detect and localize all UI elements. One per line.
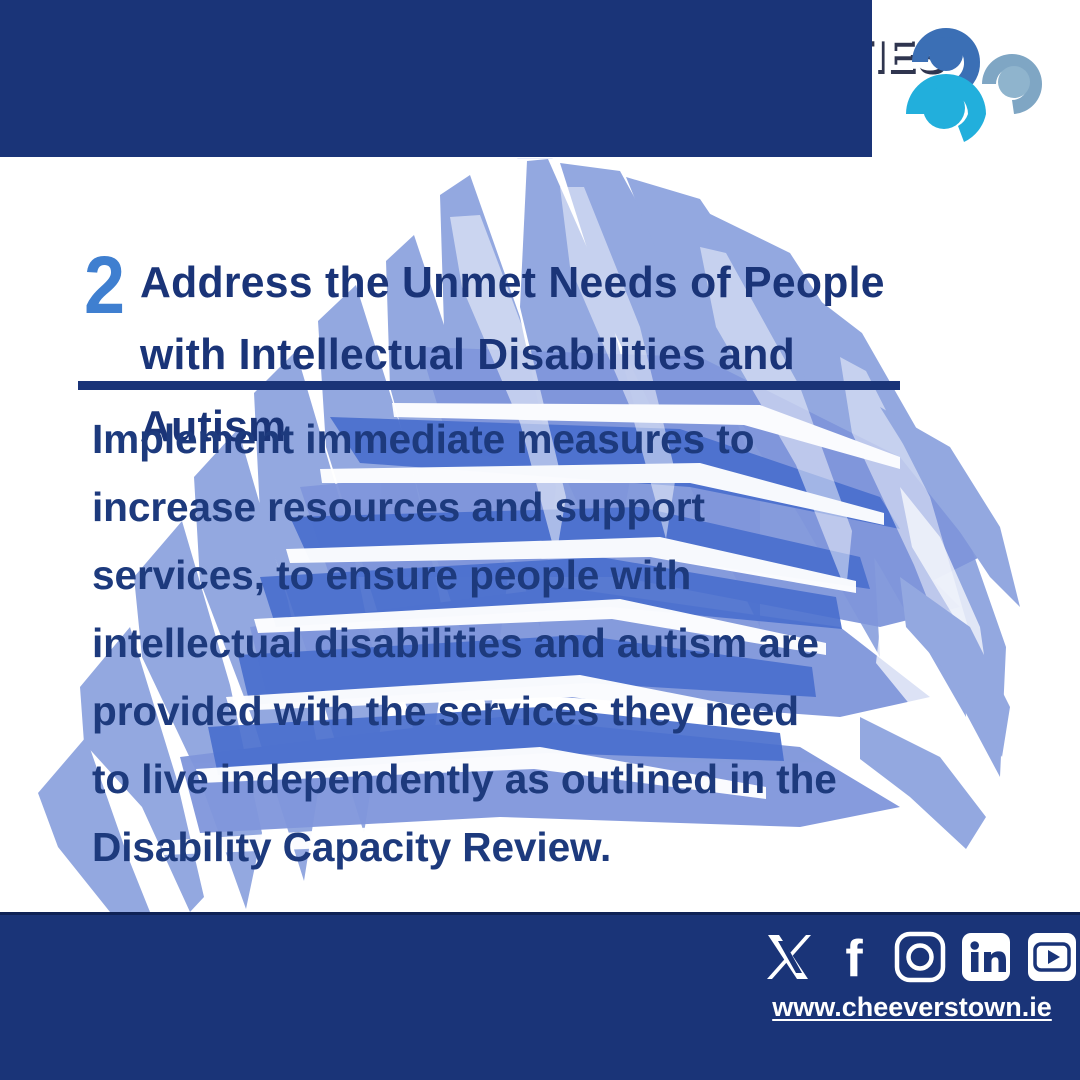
heading-divider (78, 381, 900, 390)
x-twitter-icon[interactable] (762, 931, 814, 983)
youtube-icon[interactable] (1026, 931, 1078, 983)
poster-canvas: GENERAL ELECTION 2024: 10 PRIORITIES It’… (0, 0, 1080, 1080)
priority-body-text: Implement immediate measures to increase… (92, 405, 844, 881)
footer-top-rule (0, 912, 1080, 915)
header-banner (0, 0, 872, 157)
linkedin-icon[interactable] (960, 931, 1012, 983)
facebook-icon[interactable]: f (828, 931, 880, 983)
website-link[interactable]: www.cheeverstown.ie (762, 992, 1062, 1023)
svg-text:f: f (845, 931, 863, 983)
main-content: 2 Address the Unmet Needs of People with… (0, 157, 1080, 912)
instagram-icon[interactable] (894, 931, 946, 983)
social-links-row: f (762, 926, 1062, 988)
priority-number: 2 (84, 245, 125, 327)
cheeverstown-logo (890, 10, 1060, 150)
